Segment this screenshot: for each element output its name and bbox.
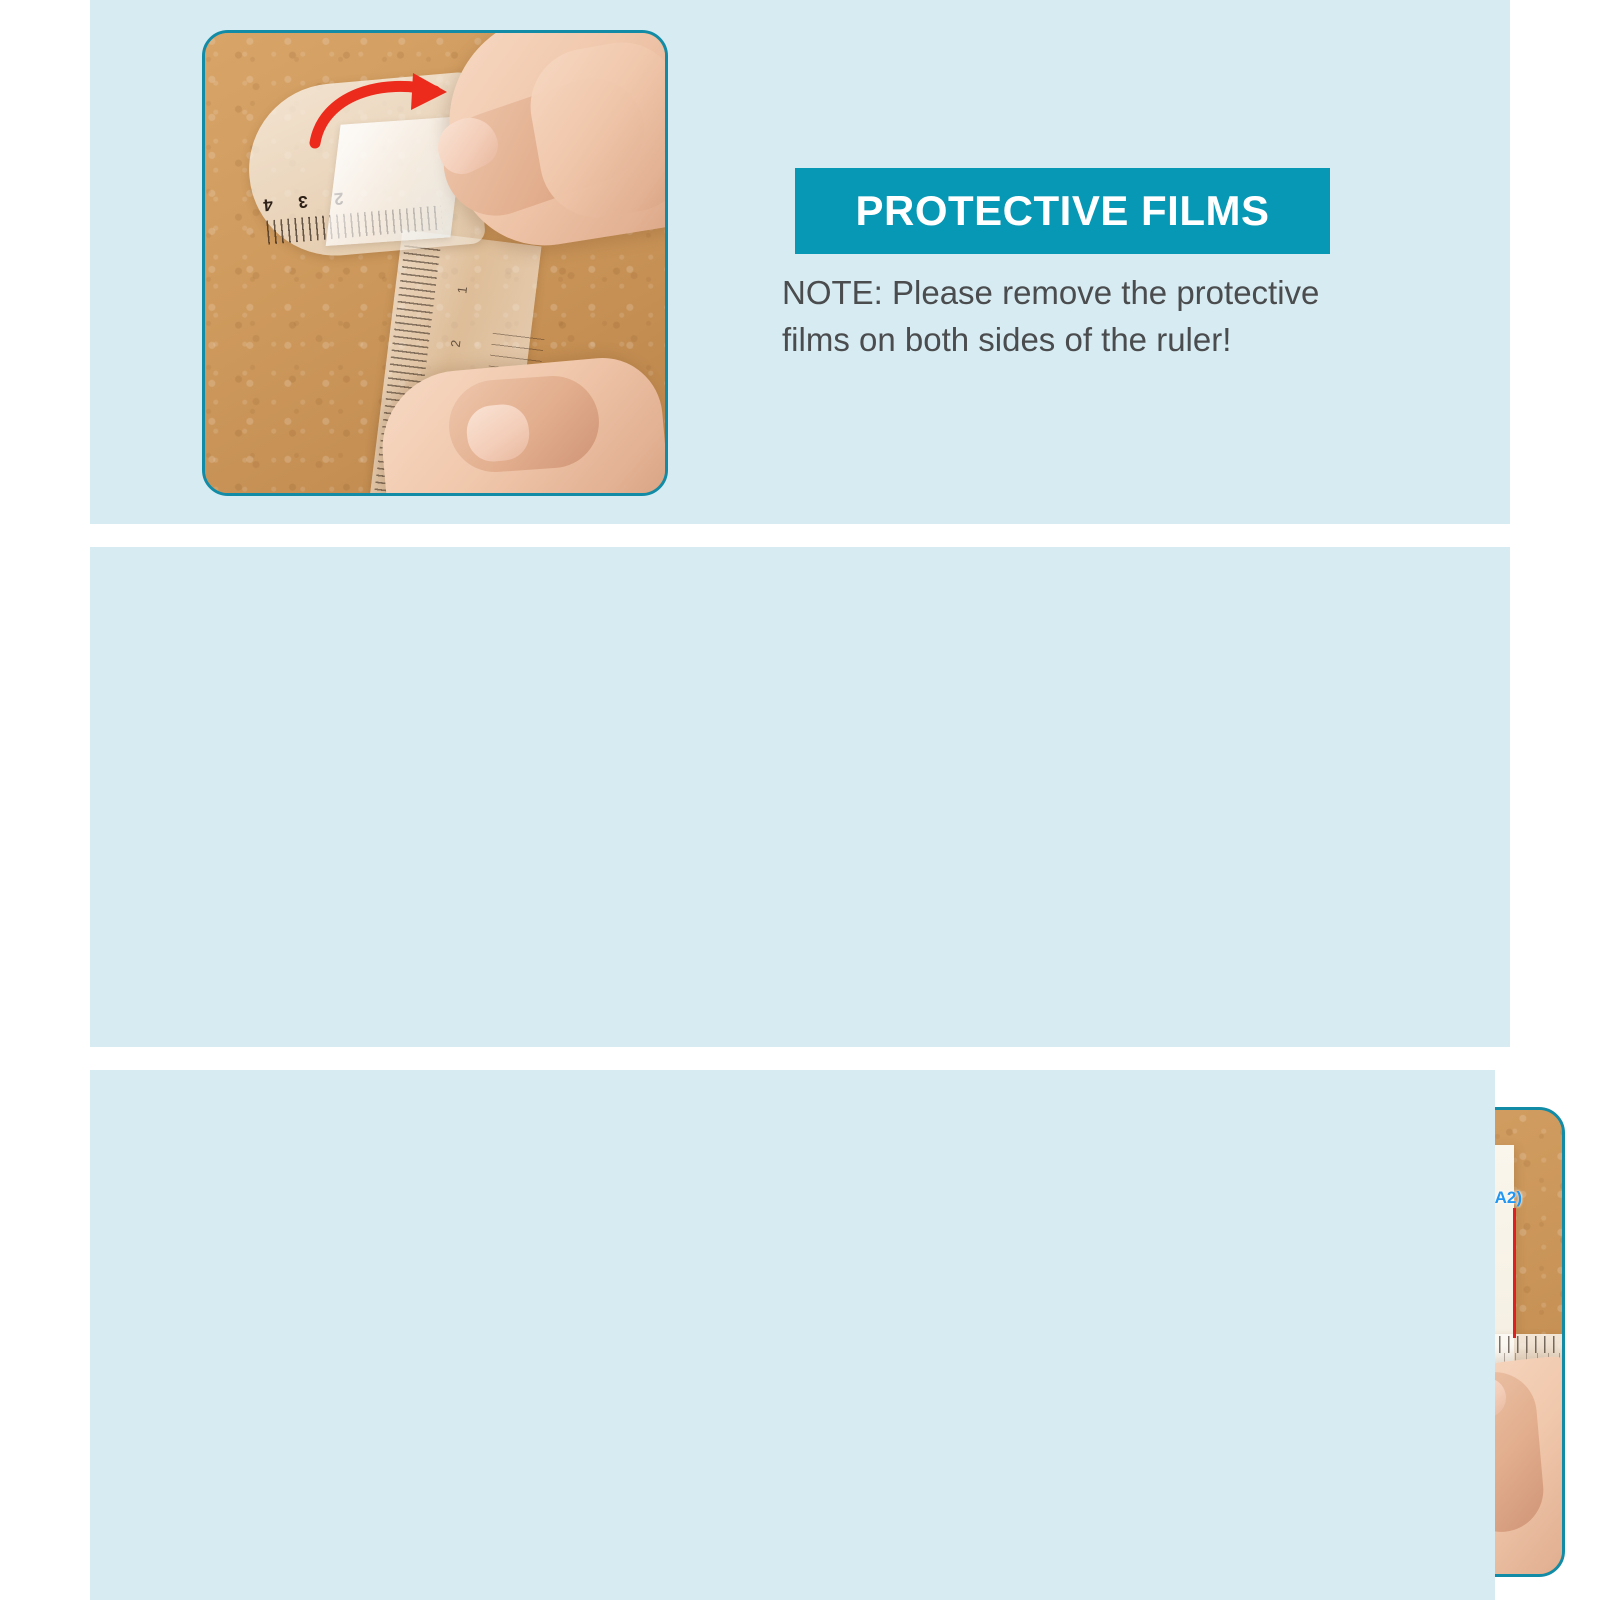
heading-text: PROTECTIVE FILMS <box>855 190 1269 232</box>
section-protective-films: 1 2 3 4 4 3 2 <box>90 0 1510 524</box>
section-handy-marks: HANDY MARKS All of the most common card … <box>90 547 1510 1047</box>
body-text-protective-films: NOTE: Please remove the protective films… <box>782 270 1382 364</box>
photo-protective-films: 1 2 3 4 4 3 2 <box>202 30 668 496</box>
heading-bar-protective-films: PROTECTIVE FILMS <box>795 168 1330 254</box>
leader-line-a2 <box>1513 1208 1516 1338</box>
section-deep-edge: SIGN DEEP EDGE A really deep edge is des… <box>90 1070 1495 1600</box>
infographic-page: 1 2 3 4 4 3 2 <box>0 0 1600 1600</box>
